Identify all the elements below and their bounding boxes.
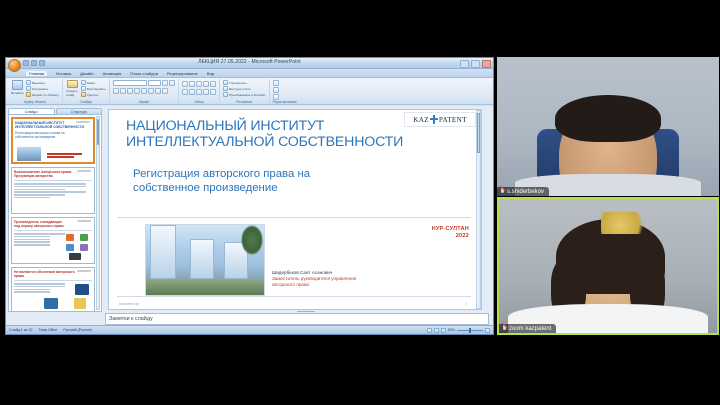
tab-home[interactable]: Главная: [26, 71, 47, 76]
smartart-label: Преобразовать в SmartArt: [229, 93, 265, 97]
new-slide-label: Создать слайд: [66, 89, 79, 97]
font-name-input[interactable]: [113, 80, 147, 86]
slide-scrollbar-handle[interactable]: [477, 113, 480, 153]
participant-tile-2[interactable]: zoom kazpatent: [497, 197, 719, 335]
paste-button[interactable]: Вставить: [11, 80, 24, 97]
arrange-icon: [223, 80, 228, 85]
replace-icon[interactable]: [273, 87, 279, 93]
slide-divider-top: [117, 217, 471, 218]
participant-tile-1[interactable]: s.shiderbekov: [497, 57, 719, 196]
group-label-editing: Редактирование: [273, 100, 297, 104]
hair-accessory: [601, 212, 649, 233]
office-button[interactable]: [8, 59, 21, 72]
slide-counter: Слайд 1 из 22: [9, 328, 32, 332]
thumb-subtitle-1: Регистрация авторского права на собствен…: [15, 131, 91, 139]
ribbon-group-paragraph: Абзац: [179, 79, 220, 104]
align-left-icon[interactable]: [182, 89, 188, 95]
format-painter-button[interactable]: Формат по образцу: [26, 92, 59, 97]
thumb-icon-3e: [69, 253, 81, 260]
thumb-icon-3b: [80, 234, 88, 241]
powerpoint-workspace: Слайды Структура KAZPATENT НАЦИОНАЛЬНЫЙ …: [6, 106, 493, 334]
theme-name: Тема Office: [38, 328, 57, 332]
speaker-role: Заместитель руководителя управления авто…: [272, 276, 422, 288]
new-slide-button[interactable]: Создать слайд: [66, 80, 79, 97]
slide-speaker-block[interactable]: Шидербеков Саят Асанович Заместитель рук…: [272, 270, 422, 288]
thumb-logo-2: KAZPATENT: [77, 170, 91, 173]
ribbon-group-font: Шрифт: [110, 79, 179, 104]
zoom-meeting-screen: ЛЕКЦИЯ 27.05.2022 - Microsoft PowerPoint…: [0, 0, 720, 405]
person-hair-1: [555, 95, 662, 142]
smartart-icon: [223, 92, 228, 97]
participant-video-2: [499, 199, 717, 333]
character-spacing-icon[interactable]: [148, 88, 154, 94]
font-color-icon[interactable]: [162, 88, 168, 94]
notes-pane[interactable]: Заметки к слайду: [105, 313, 489, 325]
slide-footer: kazpatent.kz: [119, 302, 139, 306]
normal-view-icon[interactable]: [427, 328, 432, 333]
tree: [241, 225, 263, 255]
participant-name-1: s.shiderbekov: [507, 189, 544, 195]
underline-icon[interactable]: [127, 88, 133, 94]
slide-subtitle[interactable]: Регистрация авторского права на собствен…: [133, 168, 451, 195]
delete-slide-button[interactable]: Удалить: [81, 92, 106, 97]
copy-label: Копировать: [32, 87, 48, 91]
thumb-caption-1: [47, 153, 82, 154]
quick-access-toolbar[interactable]: [23, 60, 45, 66]
scissors-icon: [26, 80, 31, 85]
slide-thumbnail-1[interactable]: KAZPATENT НАЦИОНАЛЬНЫЙ ИНСТИТУТ ИНТЕЛЛЕК…: [11, 117, 95, 164]
group-label-clipboard: Буфер обмена: [11, 100, 59, 104]
group-label-paragraph: Абзац: [182, 100, 216, 104]
participant-name-bar-2: zoom kazpatent: [499, 324, 556, 333]
reset-icon: [81, 86, 86, 91]
quick-styles-icon: [223, 86, 228, 91]
format-painter-label: Формат по образцу: [32, 93, 59, 97]
strikethrough-icon[interactable]: [134, 88, 140, 94]
tab-view[interactable]: Вид: [207, 71, 214, 76]
ground: [146, 279, 264, 295]
tab-design[interactable]: Дизайн: [80, 71, 93, 76]
font-size-input[interactable]: [148, 80, 161, 86]
paste-icon: [12, 80, 23, 90]
slide-divider-bottom: [117, 296, 471, 297]
year-label: 2022: [432, 233, 469, 240]
slide-thumbnail-4[interactable]: KAZPATENT Не являются объектами авторско…: [11, 267, 95, 312]
layout-label: Макет: [87, 81, 96, 85]
delete-icon: [81, 92, 86, 97]
new-slide-icon: [67, 80, 78, 88]
thumb-icon-4b: [44, 298, 58, 309]
shared-screen-powerpoint: ЛЕКЦИЯ 27.05.2022 - Microsoft PowerPoint…: [5, 57, 494, 335]
thumb-logo-4: KAZPATENT: [77, 270, 91, 273]
ribbon-group-clipboard: Вставить Вырезать Копировать: [8, 79, 63, 104]
tab-slideshow[interactable]: Показ слайдов: [130, 71, 158, 76]
maximize-icon[interactable]: [471, 60, 480, 68]
tab-animation[interactable]: Анимация: [103, 71, 122, 76]
save-icon[interactable]: [23, 60, 29, 66]
group-label-drawing: Рисование: [223, 100, 265, 104]
logo-text-right: PATENT: [439, 116, 467, 124]
align-right-icon[interactable]: [196, 89, 202, 95]
thumb-icon-4c: [74, 298, 86, 309]
slide-thumbnail-list[interactable]: KAZPATENT НАЦИОНАЛЬНЫЙ ИНСТИТУТ ИНТЕЛЛЕК…: [8, 114, 102, 312]
slide-page-number: 1: [465, 302, 467, 306]
ribbon-group-slides: Создать слайд Макет Восстановить: [63, 79, 110, 104]
slides-panel-tabs[interactable]: Слайды Структура: [8, 106, 102, 114]
language-label[interactable]: Русский (Россия): [63, 328, 92, 332]
copy-button[interactable]: Копировать: [26, 86, 59, 91]
group-label-font: Шрифт: [113, 100, 175, 104]
tab-insert[interactable]: Вставка: [56, 71, 71, 76]
slide-thumbnail-2[interactable]: KAZPATENT Возникновение Авторского права…: [11, 167, 95, 214]
cut-label: Вырезать: [32, 81, 45, 85]
numbering-icon[interactable]: [189, 81, 195, 87]
shadow-icon[interactable]: [141, 88, 147, 94]
thumb-icon-4a: [75, 284, 89, 295]
thumb-icon-3c: [66, 244, 74, 251]
slide-sorter-icon[interactable]: [434, 328, 439, 333]
kazpatent-emblem-icon: [430, 115, 438, 124]
quick-styles-label: Быстрые стили: [229, 87, 250, 91]
reset-label: Восстановить: [87, 87, 106, 91]
decrease-indent-icon[interactable]: [196, 81, 202, 87]
status-bar: Слайд 1 из 22 Тема Office Русский (Росси…: [6, 325, 493, 334]
layout-button[interactable]: Макет: [81, 80, 106, 85]
thumb-icon-3d: [80, 244, 88, 251]
smartart-button[interactable]: Преобразовать в SmartArt: [223, 92, 265, 97]
building-1: [150, 225, 176, 279]
columns-icon[interactable]: [210, 89, 216, 95]
participant-name-bar-1: s.shiderbekov: [497, 187, 549, 196]
ribbon-tabs[interactable]: Главная Вставка Дизайн Анимация Показ сл…: [6, 69, 493, 78]
find-icon[interactable]: [273, 80, 279, 86]
delete-label: Удалить: [87, 93, 98, 97]
kazpatent-logo: KAZ PATENT: [404, 112, 476, 127]
reset-button[interactable]: Восстановить: [81, 86, 106, 91]
participant-video-1: [497, 57, 719, 196]
grow-font-icon[interactable]: [162, 80, 168, 86]
participant-name-2: zoom kazpatent: [509, 326, 551, 332]
bold-icon[interactable]: [113, 88, 119, 94]
shrink-font-icon[interactable]: [169, 80, 175, 86]
close-icon[interactable]: [482, 60, 491, 68]
city-label: НУР-СУЛТАН: [432, 226, 469, 233]
thumbnail-scrollbar-handle[interactable]: [97, 119, 99, 145]
tab-review[interactable]: Рецензирование: [167, 71, 198, 76]
arrange-button[interactable]: Упорядочить: [223, 80, 265, 85]
quick-styles-button[interactable]: Быстрые стили: [223, 86, 265, 91]
layout-icon: [81, 80, 86, 85]
slideshow-icon[interactable]: [441, 328, 446, 333]
thumbnail-scrollbar[interactable]: [96, 116, 100, 310]
thumb-image-1: [17, 147, 41, 161]
mic-muted-icon[interactable]: [500, 188, 505, 195]
ribbon-group-drawing: Упорядочить Быстрые стили Преобразовать …: [220, 79, 269, 104]
current-slide[interactable]: НАЦИОНАЛЬНЫЙ ИНСТИТУТ ИНТЕЛЛЕКТУАЛЬНОЙ С…: [108, 109, 482, 310]
window-controls[interactable]: [460, 60, 491, 68]
redo-icon[interactable]: [39, 60, 45, 66]
building-2: [190, 239, 214, 279]
line-spacing-icon[interactable]: [210, 81, 216, 87]
slide-scrollbar[interactable]: [476, 110, 481, 309]
slide-editing-area: НАЦИОНАЛЬНЫЙ ИНСТИТУТ ИНТЕЛЛЕКТУАЛЬНОЙ С…: [105, 107, 489, 312]
paste-label: Вставить: [11, 91, 24, 95]
align-center-icon[interactable]: [189, 89, 195, 95]
zoom-level: 50%: [448, 328, 455, 332]
ribbon: Вставить Вырезать Копировать: [6, 78, 493, 105]
arrange-label: Упорядочить: [229, 81, 247, 85]
thumb-logo-1: KAZPATENT: [76, 121, 90, 124]
slide-city-year: НУР-СУЛТАН 2022: [432, 226, 469, 240]
bullets-icon[interactable]: [182, 81, 188, 87]
mic-muted-icon[interactable]: [502, 325, 507, 332]
increase-indent-icon[interactable]: [203, 81, 209, 87]
logo-text-left: KAZ: [413, 116, 429, 124]
brush-icon: [26, 92, 31, 97]
thumb-caption-1b: [47, 156, 74, 157]
zoom-slider-handle[interactable]: [469, 328, 471, 333]
slide-thumbnail-3[interactable]: KAZPATENT Произведения, попадающие под о…: [11, 217, 95, 264]
fit-to-window-icon[interactable]: [485, 328, 490, 333]
italic-icon[interactable]: [120, 88, 126, 94]
ribbon-group-editing: Редактирование: [270, 79, 300, 104]
thumb-icon-3a: [66, 234, 74, 241]
change-case-icon[interactable]: [155, 88, 161, 94]
slide-photo-buildings[interactable]: [145, 224, 265, 296]
copy-icon: [26, 86, 31, 91]
group-label-slides: Слайды: [66, 100, 106, 104]
zoom-slider[interactable]: [457, 330, 483, 331]
thumb-logo-3: KAZPATENT: [77, 220, 91, 223]
cut-button[interactable]: Вырезать: [26, 80, 59, 85]
powerpoint-title-bar: ЛЕКЦИЯ 27.05.2022 - Microsoft PowerPoint: [6, 58, 493, 69]
justify-icon[interactable]: [203, 89, 209, 95]
undo-icon[interactable]: [31, 60, 37, 66]
window-title: ЛЕКЦИЯ 27.05.2022 - Microsoft PowerPoint: [198, 59, 301, 65]
minimize-icon[interactable]: [460, 60, 469, 68]
